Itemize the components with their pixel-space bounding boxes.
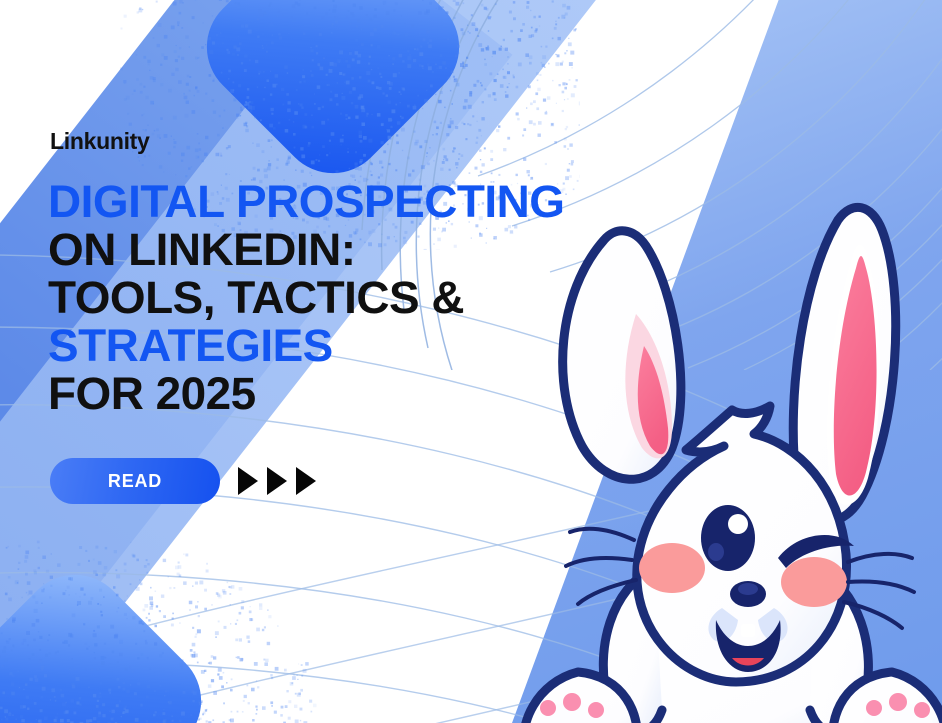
play-triangle-icon <box>238 467 258 495</box>
headline-line-4: STRATEGIES <box>48 322 565 370</box>
headline-line-1: DIGITAL PROSPECTING <box>48 178 565 226</box>
play-triangle-icon <box>296 467 316 495</box>
bunny-cheek-left <box>639 543 705 593</box>
bunny-ear-left <box>563 231 681 479</box>
headline-line-2: ON LINKEDIN: <box>48 226 565 274</box>
brand-logo-text: Linkunity <box>50 128 150 155</box>
play-triangle-icon <box>267 467 287 495</box>
headline-line-5: FOR 2025 <box>48 370 565 418</box>
bunny-cheek-right <box>781 557 847 607</box>
cta-row: READ <box>50 458 316 504</box>
read-button[interactable]: READ <box>50 458 220 504</box>
poster-canvas: Linkunity DIGITAL PROSPECTING ON LINKEDI… <box>0 0 942 723</box>
headline-line-3: TOOLS, TACTICS & <box>48 274 565 322</box>
bunny-eye-open <box>701 505 755 571</box>
page-title: DIGITAL PROSPECTING ON LINKEDIN: TOOLS, … <box>48 178 554 418</box>
arrow-group <box>238 467 316 495</box>
